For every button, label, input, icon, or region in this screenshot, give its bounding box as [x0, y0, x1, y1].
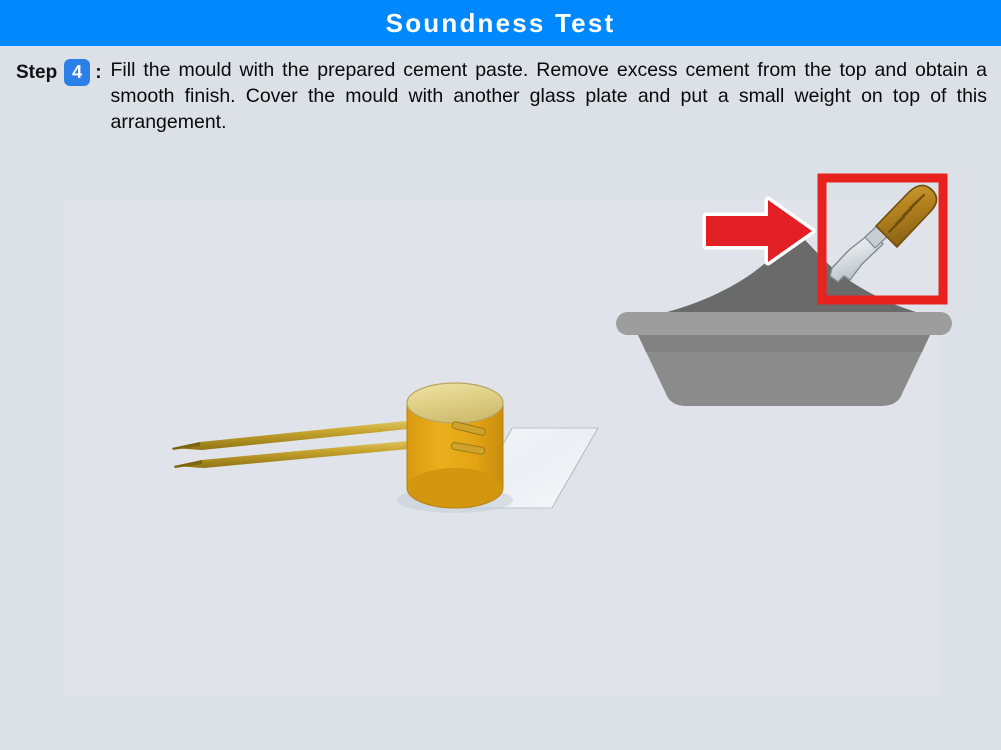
instruction-block: Step 4 : Fill the mould with the prepare… [0, 46, 1001, 146]
soundness-test-slide: Soundness Test Step 4 : Fill the mould w… [0, 0, 1001, 750]
page-title: Soundness Test [386, 10, 616, 36]
step-colon: : [95, 63, 101, 82]
indicator-needles [172, 418, 441, 468]
tray-rim [616, 312, 952, 335]
mixing-tray [638, 335, 930, 406]
step-indicator: Step 4 : [0, 57, 102, 87]
step-number-badge: 4 [64, 59, 90, 86]
illustration-stage [0, 146, 1001, 750]
title-bar: Soundness Test [0, 0, 1001, 46]
step-description: Fill the mould with the prepared cement … [111, 57, 987, 135]
le-chatelier-mould-group [160, 376, 580, 556]
trowel [830, 185, 937, 282]
step-word: Step [16, 63, 57, 82]
mixing-tray-group [600, 160, 1001, 440]
